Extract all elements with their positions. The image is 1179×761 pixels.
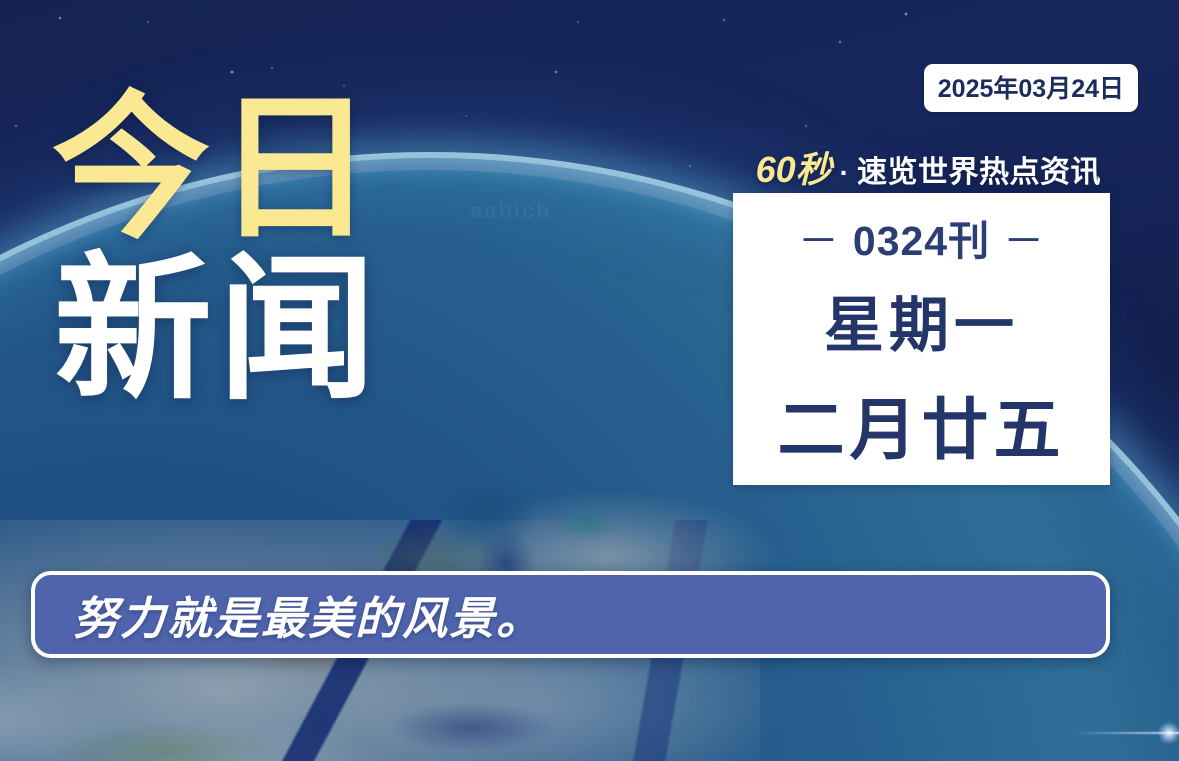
tagline: 60秒 · 速览世界热点资讯	[756, 141, 1101, 193]
poster-canvas: aabich 今日 新闻 2025年03月24日 60秒 · 速览世界热点资讯 …	[0, 0, 1179, 761]
issue-number-row: － 0324刊 －	[798, 207, 1045, 267]
page-title: 今日 新闻	[52, 92, 382, 408]
lunar-date-label: 二月廿五	[778, 376, 1066, 473]
quote-banner: 努力就是最美的风景。	[31, 571, 1110, 658]
tagline-text: 速览世界热点资讯	[857, 147, 1101, 191]
tagline-separator: ·	[834, 157, 855, 189]
quote-text: 努力就是最美的风景。	[35, 582, 543, 647]
issue-info-card: － 0324刊 － 星期一 二月廿五	[733, 193, 1110, 485]
page-title-line-1: 今日	[52, 92, 382, 247]
issue-number: 0324刊	[853, 207, 990, 267]
tagline-seconds: 60秒	[756, 141, 832, 193]
date-badge: 2025年03月24日	[924, 64, 1138, 112]
issue-dash-left: －	[798, 207, 840, 267]
weekday-label: 星期一	[824, 277, 1019, 364]
issue-dash-right: －	[1003, 207, 1045, 267]
page-title-line-2: 新闻	[54, 253, 382, 408]
